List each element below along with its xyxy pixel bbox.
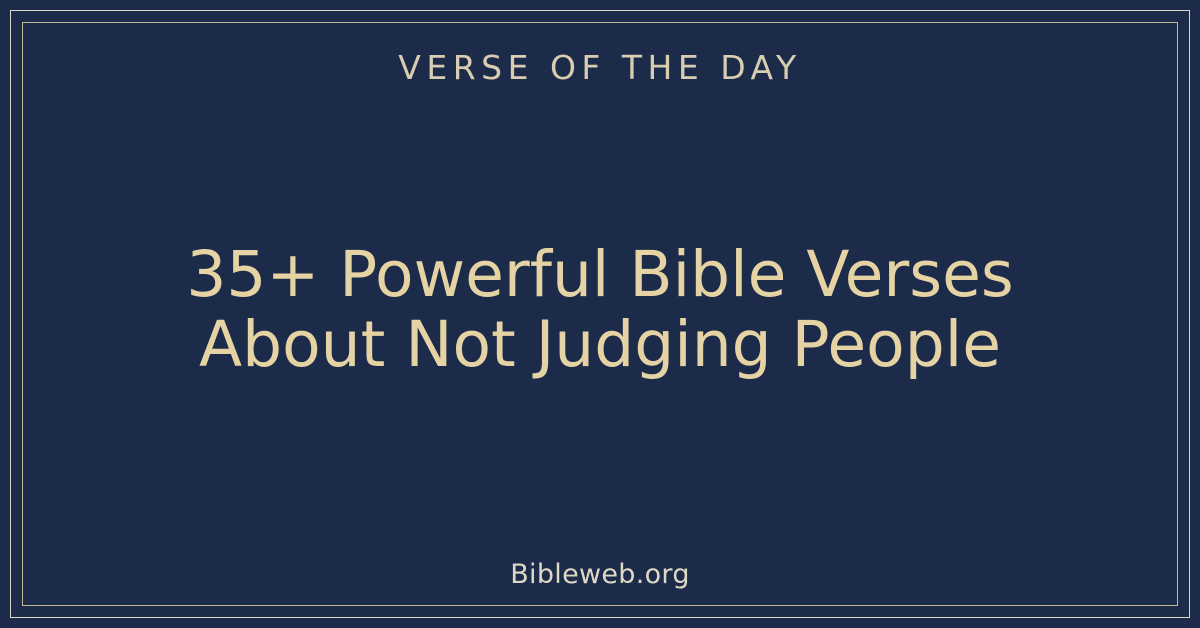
site-attribution: Bibleweb.org: [0, 557, 1200, 593]
eyebrow-label: VERSE OF THE DAY: [0, 45, 1200, 91]
headline-line-1: 35+ Powerful Bible Verses: [60, 240, 1140, 310]
headline-block: 35+ Powerful Bible Verses About Not Judg…: [60, 240, 1140, 380]
page-title: 35+ Powerful Bible Verses About Not Judg…: [60, 240, 1140, 380]
verse-of-the-day-card: VERSE OF THE DAY 35+ Powerful Bible Vers…: [0, 0, 1200, 628]
headline-line-2: About Not Judging People: [60, 310, 1140, 380]
